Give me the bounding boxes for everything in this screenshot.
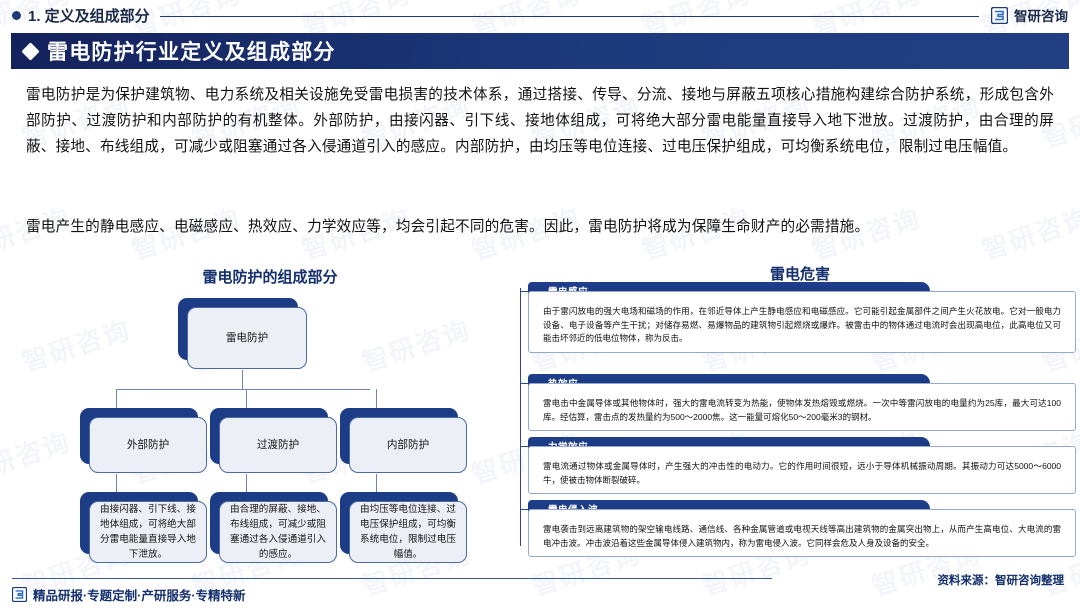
header-divider xyxy=(160,16,979,17)
node-label: 由均压等电位连接、过电压保护组成，可均衡系统电位，限制过电压幅值。 xyxy=(350,502,466,562)
org-node-detail-3: 由均压等电位连接、过电压保护组成，可均衡系统电位，限制过电压幅值。 xyxy=(340,492,458,554)
hazard-item-body: 雷电袭击到远离建筑物的架空输电线路、通信线、各种金属管道或电视天线等高出建筑物的… xyxy=(528,509,1076,557)
dot-icon xyxy=(12,11,21,20)
intro-paragraph-2: 雷电产生的静电感应、电磁感应、热效应、力学效应等，均会引起不同的危害。因此，雷电… xyxy=(26,214,1054,240)
page-title-bar: 雷电防护行业定义及组成部分 xyxy=(11,33,1069,69)
hazard-item-text: 雷电袭击到远离建筑物的架空输电线路、通信线、各种金属管道或电视天线等高出建筑物的… xyxy=(543,523,1061,550)
left-panel-caption: 雷电防护的组成部分 xyxy=(55,266,485,287)
footer-divider xyxy=(12,578,772,579)
hazard-item-text: 雷电流通过物体或金属导体时，产生强大的冲击性的电动力。它的作用时间很短，远小于导… xyxy=(543,460,1061,487)
section-number-label: 1. 定义及组成部分 xyxy=(28,5,150,26)
connector-branch-down-3 xyxy=(376,474,377,492)
zhiyan-logo-icon xyxy=(12,587,27,602)
hazard-item: 热效应雷电击中金属导体或其他物体时，强大的雷电流转变为热能，使物体发热熔毁或燃烧… xyxy=(528,374,1076,431)
org-node-detail-2: 由合理的屏蔽、接地、布线组成，可减少或阻塞通过各入侵通道引入的感应。 xyxy=(210,492,328,554)
node-label: 由接闪器、引下线、接地体组成，可将绝大部分雷电能量直接导入地下泄放。 xyxy=(90,502,206,562)
hazard-item: 雷电感应由于雷闪放电的强大电场和磁场的作用，在邻近导体上产生静电感应和电磁感应。… xyxy=(528,282,1076,353)
hazard-item: 雷电侵入波雷电袭击到远离建筑物的架空输电线路、通信线、各种金属管道或电视天线等高… xyxy=(528,500,1076,557)
hazard-item-body: 雷电流通过物体或金属导体时，产生强大的冲击性的电动力。它的作用时间很短，远小于导… xyxy=(528,446,1076,494)
hazard-item: 力学效应雷电流通过物体或金属导体时，产生强大的冲击性的电动力。它的作用时间很短，… xyxy=(528,437,1076,494)
page-header: 1. 定义及组成部分 智研咨询 xyxy=(0,0,1080,30)
page-title: 雷电防护行业定义及组成部分 xyxy=(47,36,336,66)
brand: 智研咨询 xyxy=(991,5,1068,25)
node-face: 由接闪器、引下线、接地体组成，可将绝大部分雷电能量直接导入地下泄放。 xyxy=(89,501,207,563)
connector-drop-1 xyxy=(116,389,117,409)
connector-branch-down-2 xyxy=(246,474,247,492)
node-face: 外部防护 xyxy=(89,417,207,473)
org-node-root: 雷电防护 xyxy=(178,298,298,360)
org-node-branch-1: 外部防护 xyxy=(80,408,198,464)
node-face: 雷电防护 xyxy=(187,307,307,369)
connector-branch-down-1 xyxy=(116,474,117,492)
connector-drop-2 xyxy=(246,389,247,409)
diamond-icon xyxy=(21,42,39,60)
hazard-list: 雷电感应由于雷闪放电的强大电场和磁场的作用，在邻近导体上产生静电感应和电磁感应。… xyxy=(520,282,1076,567)
composition-org-chart: 雷电防护外部防护由接闪器、引下线、接地体组成，可将绝大部分雷电能量直接导入地下泄… xyxy=(20,284,520,564)
connector-root-down xyxy=(242,370,243,390)
right-panel-caption: 雷电危害 xyxy=(530,263,1070,284)
node-face: 由均压等电位连接、过电压保护组成，可均衡系统电位，限制过电压幅值。 xyxy=(349,501,467,563)
hazard-item-text: 雷电击中金属导体或其他物体时，强大的雷电流转变为热能，使物体发热熔毁或燃烧。一次… xyxy=(543,397,1061,424)
connector-drop-3 xyxy=(376,389,377,409)
footer-bar: 精品研报·专题定制·产研服务·专精特新 xyxy=(12,585,246,604)
hazard-spine-line xyxy=(520,288,521,546)
hazard-item-body: 由于雷闪放电的强大电场和磁场的作用，在邻近导体上产生静电感应和电磁感应。它可能引… xyxy=(528,291,1076,353)
hazard-item-text: 由于雷闪放电的强大电场和磁场的作用，在邻近导体上产生静电感应和电磁感应。它可能引… xyxy=(543,305,1061,346)
org-node-detail-1: 由接闪器、引下线、接地体组成，可将绝大部分雷电能量直接导入地下泄放。 xyxy=(80,492,198,554)
node-label: 雷电防护 xyxy=(219,331,275,346)
brand-name: 智研咨询 xyxy=(1014,5,1068,25)
node-label: 外部防护 xyxy=(120,438,176,453)
footer-tagline: 精品研报·专题定制·产研服务·专精特新 xyxy=(33,585,246,604)
node-face: 由合理的屏蔽、接地、布线组成，可减少或阻塞通过各入侵通道引入的感应。 xyxy=(219,501,337,563)
node-label: 内部防护 xyxy=(380,438,436,453)
node-label: 过渡防护 xyxy=(250,438,306,453)
node-face: 内部防护 xyxy=(349,417,467,473)
hazard-item-body: 雷电击中金属导体或其他物体时，强大的雷电流转变为热能，使物体发热熔毁或燃烧。一次… xyxy=(528,383,1076,431)
zhiyan-logo-icon xyxy=(991,7,1008,24)
connector-bus xyxy=(116,389,370,390)
org-node-branch-2: 过渡防护 xyxy=(210,408,328,464)
org-node-branch-3: 内部防护 xyxy=(340,408,458,464)
node-label: 由合理的屏蔽、接地、布线组成，可减少或阻塞通过各入侵通道引入的感应。 xyxy=(220,502,336,562)
node-face: 过渡防护 xyxy=(219,417,337,473)
intro-paragraph-1: 雷电防护是为保护建筑物、电力系统及相关设施免受雷电损害的技术体系，通过搭接、传导… xyxy=(26,82,1054,160)
source-note: 资料来源：智研咨询整理 xyxy=(938,572,1065,588)
